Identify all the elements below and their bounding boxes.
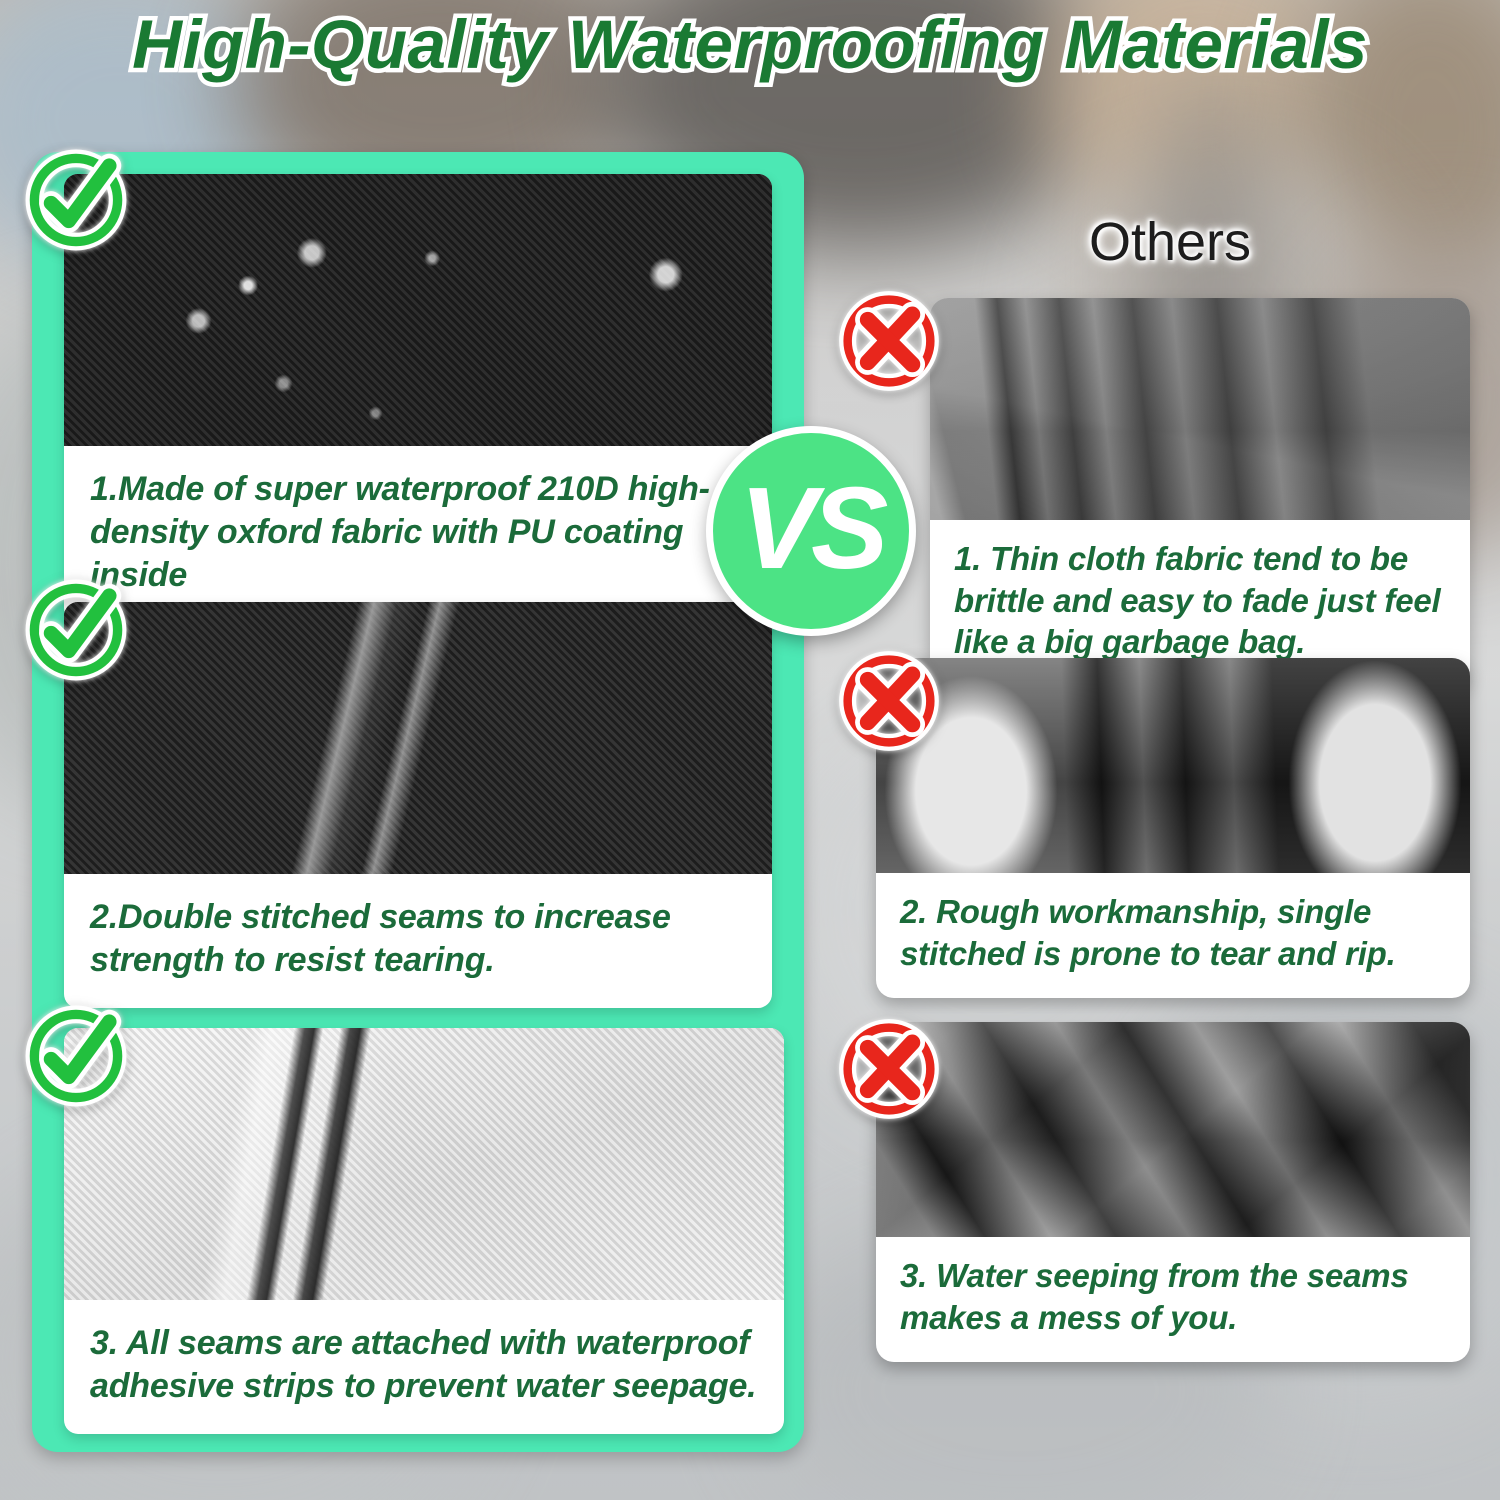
infographic-canvas: High-Quality Waterproofing Materials Oth…: [0, 0, 1500, 1500]
x-circle-icon: [836, 1016, 942, 1122]
ours-card-3-caption: 3. All seams are attached with waterproo…: [64, 1300, 784, 1434]
ours-card-1-caption: 1.Made of super waterproof 210D high-den…: [64, 446, 772, 622]
hands-holding-torn-fabric-photo: [876, 658, 1470, 873]
ours-card-2: 2.Double stitched seams to increase stre…: [64, 602, 772, 1008]
others-card-3: 3. Water seeping from the seams makes a …: [876, 1022, 1470, 1362]
check-circle-icon: [24, 1004, 128, 1108]
others-card-2-caption: 2. Rough workmanship, single stitched is…: [876, 873, 1470, 998]
others-card-2: 2. Rough workmanship, single stitched is…: [876, 658, 1470, 998]
page-title-text: High-Quality Waterproofing Materials: [132, 10, 1368, 79]
check-circle-icon: [24, 578, 128, 682]
oxford-fabric-water-beads-photo: [64, 174, 772, 446]
x-circle-icon: [836, 288, 942, 394]
ours-panel: 1.Made of super waterproof 210D high-den…: [32, 152, 804, 1452]
vs-badge: VS: [706, 426, 916, 636]
others-card-3-caption: 3. Water seeping from the seams makes a …: [876, 1237, 1470, 1362]
check-circle-icon: [24, 148, 128, 252]
ours-card-2-caption: 2.Double stitched seams to increase stre…: [64, 874, 772, 1008]
ours-card-1: 1.Made of super waterproof 210D high-den…: [64, 174, 772, 622]
double-stitched-seam-photo: [64, 602, 772, 874]
x-circle-icon: [836, 648, 942, 754]
thin-plastic-cover-photo: [930, 298, 1470, 520]
adhesive-seam-tape-photo: [64, 1028, 784, 1300]
others-card-1: 1. Thin cloth fabric tend to be brittle …: [930, 298, 1470, 687]
ours-card-3: 3. All seams are attached with waterproo…: [64, 1028, 784, 1434]
vs-badge-label: VS: [740, 470, 883, 586]
crumpled-wet-plastic-photo: [876, 1022, 1470, 1237]
others-heading: Others: [1010, 215, 1330, 269]
page-title: High-Quality Waterproofing Materials: [0, 10, 1500, 79]
